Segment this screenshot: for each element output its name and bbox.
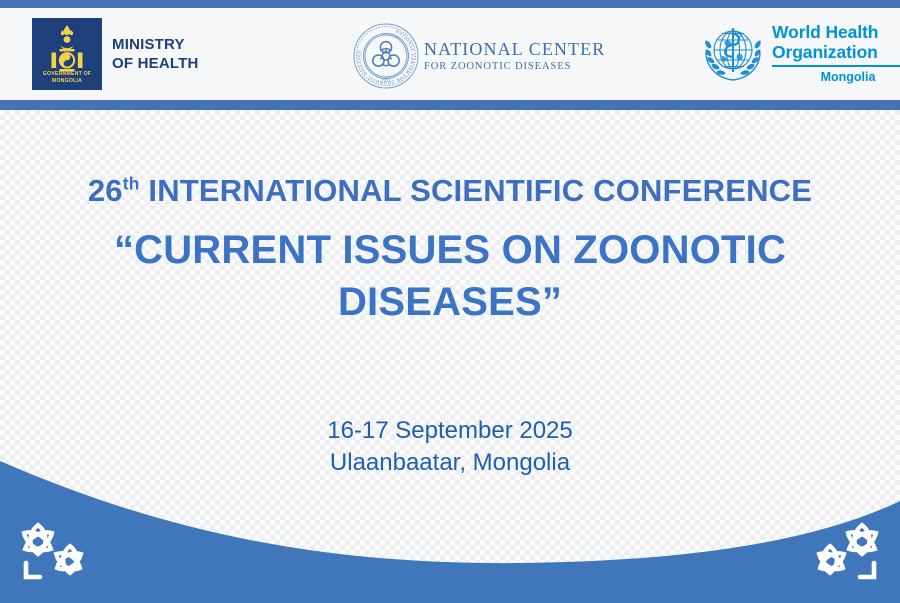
mongolia-soyombo-emblem: GOVERNMENT OF MONGOLIA bbox=[32, 18, 102, 90]
header-divider-bar bbox=[0, 100, 900, 110]
conference-ordinal-suffix: th bbox=[123, 174, 140, 194]
national-center-name: NATIONAL CENTER FOR ZOONOTIC DISEASES bbox=[424, 39, 605, 74]
who-mongolia-logo: World Health Organization Mongolia bbox=[700, 20, 900, 86]
conference-number: 26 bbox=[88, 173, 123, 208]
partner-logo-row: GOVERNMENT OF MONGOLIA MINISTRY OF HEALT… bbox=[0, 8, 900, 100]
conference-theme: “CURRENT ISSUES ON ZOONOTIC DISEASES” bbox=[0, 224, 900, 328]
mongolian-knot-ornament-right bbox=[804, 517, 886, 583]
conference-title-slide: GOVERNMENT OF MONGOLIA MINISTRY OF HEALT… bbox=[0, 0, 900, 603]
who-name-line1: World Health bbox=[772, 22, 900, 42]
bottom-wave-decoration bbox=[0, 453, 900, 603]
ministry-of-health-name: MINISTRY OF HEALTH bbox=[112, 35, 199, 73]
svg-text:1951: 1951 bbox=[381, 78, 391, 83]
national-center-zoonotic-diseases-logo: NATIONAL CENTER FOR ZOONOTIC DISEASES 19… bbox=[352, 22, 605, 90]
emblem-caption: GOVERNMENT OF MONGOLIA bbox=[32, 71, 102, 85]
who-name-block: World Health Organization Mongolia bbox=[772, 20, 900, 84]
who-name-line2: Organization bbox=[772, 42, 900, 62]
ministry-of-health-logo: GOVERNMENT OF MONGOLIA MINISTRY OF HEALT… bbox=[32, 18, 199, 90]
nczd-seal-icon: NATIONAL CENTER FOR ZOONOTIC DISEASES 19… bbox=[352, 22, 420, 90]
who-divider bbox=[772, 65, 900, 67]
wave-shape bbox=[0, 461, 900, 603]
top-accent-bar bbox=[0, 0, 900, 8]
mongolian-knot-ornament-left bbox=[14, 517, 96, 583]
conference-label: INTERNATIONAL SCIENTIFIC CONFERENCE bbox=[148, 173, 812, 208]
who-emblem-icon bbox=[700, 20, 766, 86]
conference-heading: 26th INTERNATIONAL SCIENTIFIC CONFERENCE bbox=[0, 172, 900, 210]
who-country-label: Mongolia bbox=[772, 70, 900, 84]
event-date: 16-17 September 2025 bbox=[0, 415, 900, 447]
title-block: 26th INTERNATIONAL SCIENTIFIC CONFERENCE… bbox=[0, 172, 900, 328]
